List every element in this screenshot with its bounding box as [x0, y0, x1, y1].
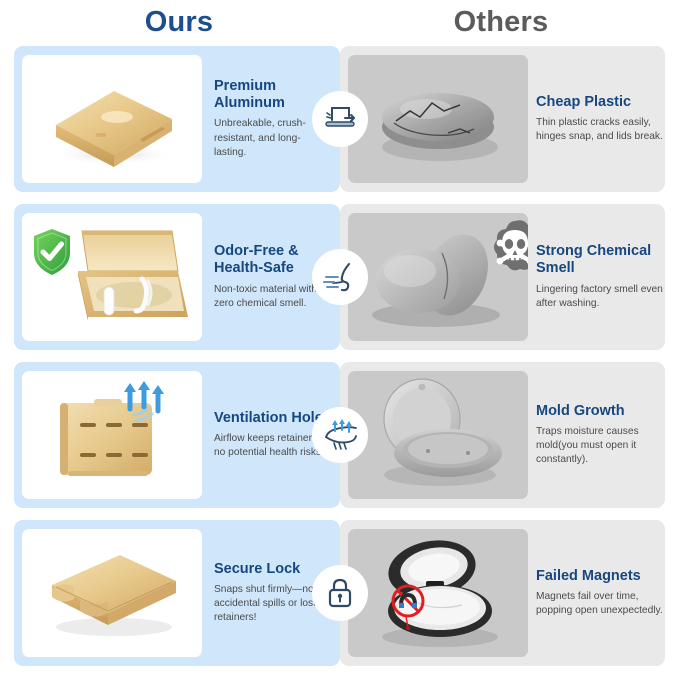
row-2-others-title: Strong Chemical Smell [536, 243, 664, 277]
gold-case-open-with-retainer-art [22, 213, 202, 341]
row-4-others-image [348, 529, 528, 657]
row-1-others-panel: Cheap Plastic Thin plastic cracks easily… [340, 46, 665, 192]
row-2-others-text: Strong Chemical Smell Lingering factory … [536, 204, 664, 350]
connector-padlock [312, 565, 368, 621]
row-2-ours-panel: Odor-Free & Health-Safe Non-toxic materi… [14, 204, 340, 350]
connector-nose-smell [312, 249, 368, 305]
open-gray-clamshell-case-art [348, 371, 528, 499]
row-1-others-image [348, 55, 528, 183]
header-others: Others [340, 6, 662, 39]
crush-resistant-icon [323, 104, 357, 134]
row-1-others-text: Cheap Plastic Thin plastic cracks easily… [536, 46, 664, 192]
comparison-row-1: Premium Aluminum Unbreakable, crush-resi… [0, 46, 679, 192]
row-3-ours-panel: Ventilation Holes Airflow keeps retainer… [14, 362, 340, 508]
row-1-ours-image [22, 55, 202, 183]
row-4-others-panel: Failed Magnets Magnets fail over time, p… [340, 520, 665, 666]
nose-smell-icon [322, 261, 358, 293]
padlock-icon [325, 576, 355, 610]
row-4-ours-panel: Secure Lock Snaps shut firmly—no acciden… [14, 520, 340, 666]
row-3-ours-image [22, 371, 202, 499]
comparison-row-3: Ventilation Holes Airflow keeps retainer… [0, 362, 679, 508]
row-3-others-text: Mold Growth Traps moisture causes mold(y… [536, 362, 664, 508]
row-1-others-desc: Thin plastic cracks easily, hinges snap,… [536, 116, 664, 144]
comparison-row-2: Odor-Free & Health-Safe Non-toxic materi… [0, 204, 679, 350]
airflow-vent-icon [322, 419, 358, 451]
black-case-failed-magnet-art [348, 529, 528, 657]
connector-crush-resistant [312, 91, 368, 147]
row-2-others-image [348, 213, 528, 341]
row-2-others-desc: Lingering factory smell even after washi… [536, 283, 664, 311]
gold-aluminum-case-closed-art [22, 55, 202, 183]
row-3-others-title: Mold Growth [536, 403, 664, 420]
row-3-others-desc: Traps moisture causes mold(you must open… [536, 425, 664, 467]
row-4-others-desc: Magnets fail over time, popping open une… [536, 590, 664, 618]
row-1-ours-panel: Premium Aluminum Unbreakable, crush-resi… [14, 46, 340, 192]
skull-crossbones-icon [484, 217, 528, 279]
row-1-others-title: Cheap Plastic [536, 94, 664, 111]
row-2-others-panel: Strong Chemical Smell Lingering factory … [340, 204, 665, 350]
row-4-ours-image [22, 529, 202, 657]
row-3-others-panel: Mold Growth Traps moisture causes mold(y… [340, 362, 665, 508]
gold-case-secure-lock-art [22, 529, 202, 657]
row-3-others-image [348, 371, 528, 499]
row-4-ours-title: Secure Lock [214, 561, 332, 578]
row-2-ours-image [22, 213, 202, 341]
headers-bar: Ours Others [0, 0, 679, 46]
comparison-row-4: Secure Lock Snaps shut firmly—no acciden… [0, 520, 679, 666]
header-ours: Ours [18, 6, 340, 39]
cracked-gray-plastic-case-art [348, 55, 528, 183]
row-4-others-title: Failed Magnets [536, 568, 664, 585]
comparison-infographic: Ours Others [0, 0, 679, 679]
gold-case-with-vent-holes-art [22, 371, 202, 499]
connector-airflow-vent [312, 407, 368, 463]
row-4-others-text: Failed Magnets Magnets fail over time, p… [536, 520, 664, 666]
